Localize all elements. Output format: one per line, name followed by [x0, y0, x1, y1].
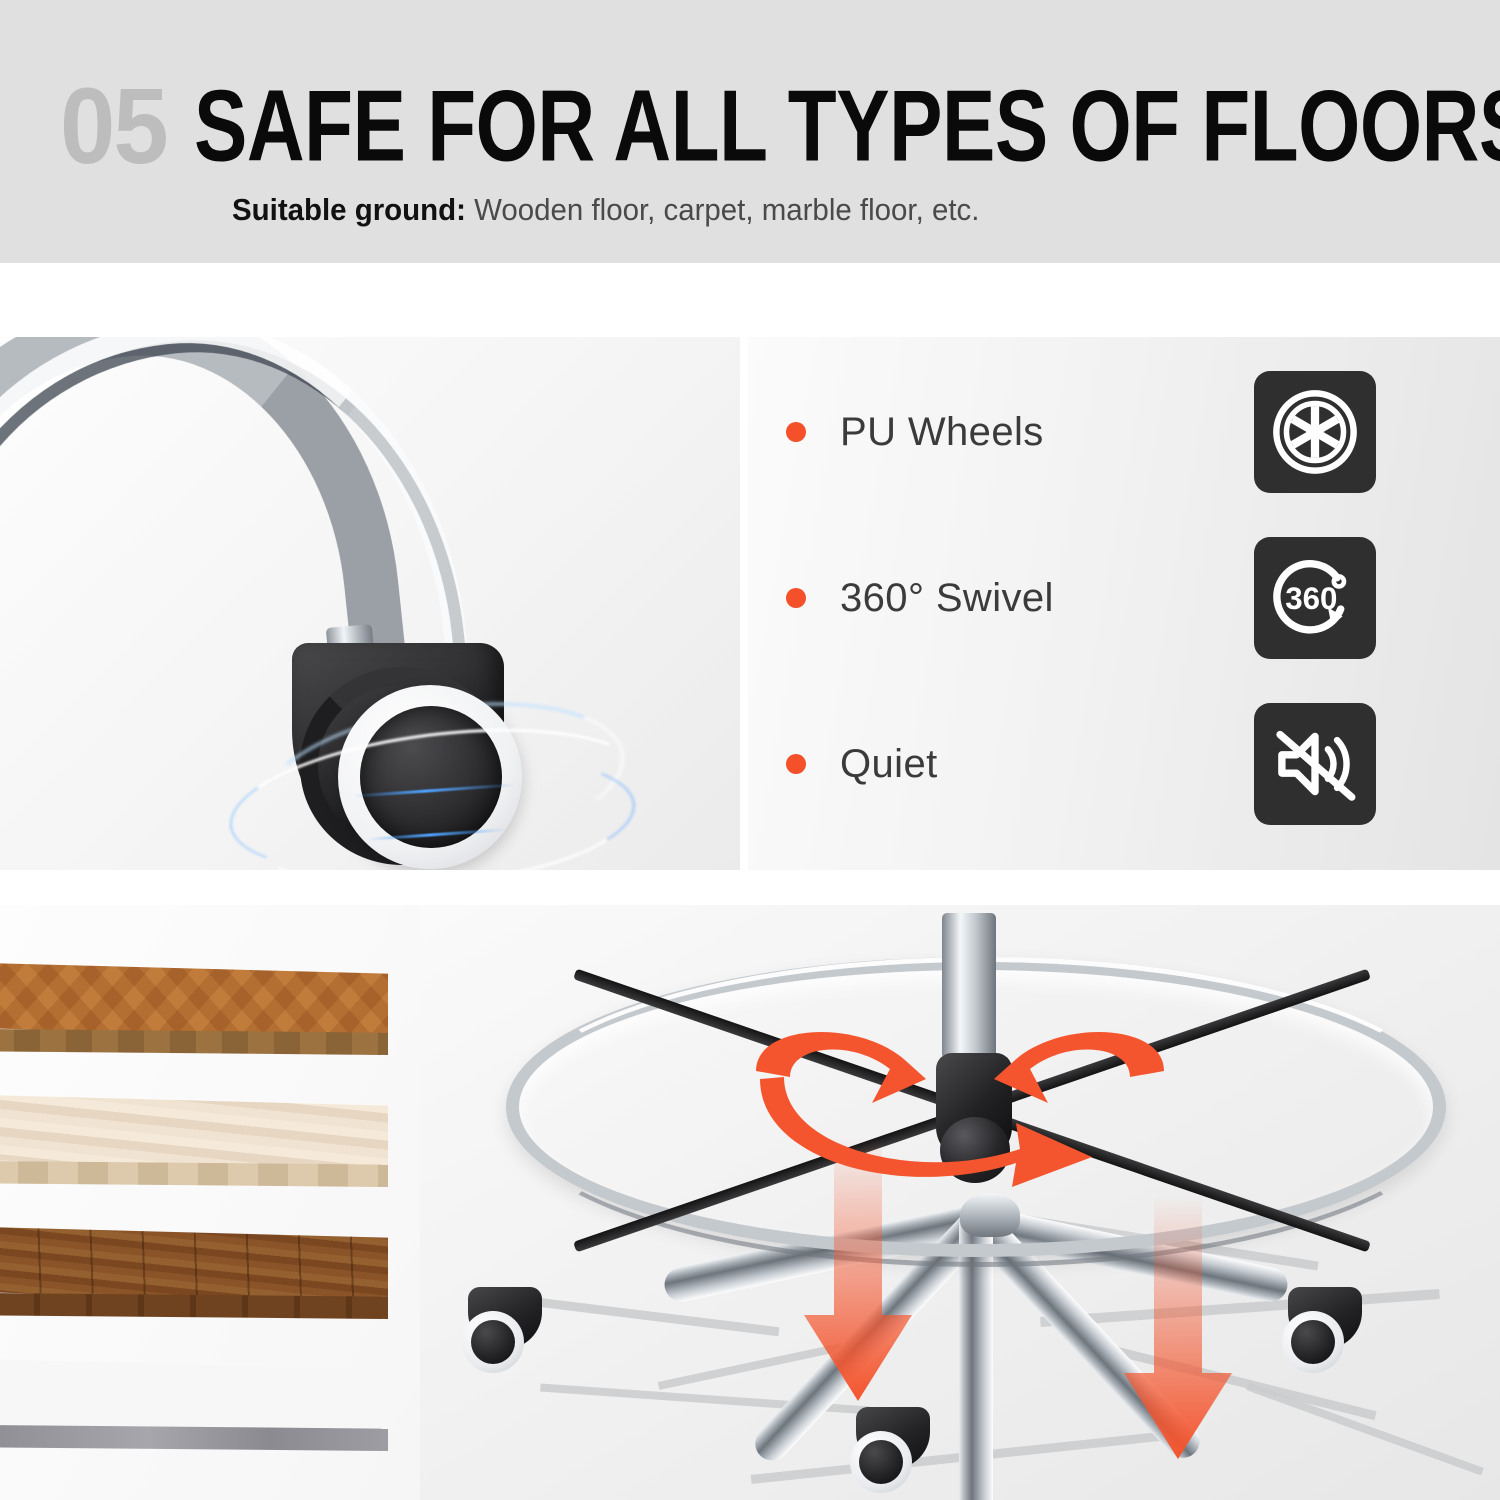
- feature-list: PU Wheels: [748, 337, 1500, 870]
- feature-label: 360° Swivel: [840, 576, 1054, 621]
- swivel-rotation-arrow: [720, 1017, 1200, 1187]
- slab-surface: [0, 1227, 388, 1303]
- slab-edge: [0, 1029, 388, 1055]
- feature-row-quiet: Quiet: [776, 703, 1476, 825]
- downward-pressure-arrow: [1120, 1195, 1236, 1465]
- page-title: SAFE FOR ALL TYPES OF FLOORS: [194, 76, 1500, 177]
- slab-surface: [0, 963, 388, 1039]
- feature-label: PU Wheels: [840, 410, 1044, 455]
- subtitle-rest: Wooden floor, carpet, marble floor, etc.: [466, 192, 979, 227]
- caster-wheel: [462, 1287, 548, 1373]
- bullet-icon: [786, 422, 806, 442]
- feature-label: Quiet: [840, 742, 938, 787]
- slab-surface: [0, 1359, 388, 1435]
- feature-list-panel: PU Wheels: [748, 337, 1500, 870]
- downward-pressure-arrow: [800, 1137, 916, 1407]
- mute-speaker-icon: [1254, 703, 1376, 825]
- infographic-page: 05 SAFE FOR ALL TYPES OF FLOORS Suitable…: [0, 0, 1500, 1500]
- caster-tread: [859, 1440, 903, 1484]
- caster-wheel-tread: [360, 706, 502, 848]
- caster-photo-panel: [0, 337, 740, 870]
- floor-samples-panel: [0, 905, 420, 1500]
- slab-edge: [0, 1425, 388, 1451]
- wheel-icon: [1254, 371, 1376, 493]
- caster-tread: [471, 1320, 515, 1364]
- slab-edge: [0, 1293, 388, 1319]
- feature-row-360-swivel: 360° Swivel 360: [776, 537, 1476, 659]
- header-band: 05 SAFE FOR ALL TYPES OF FLOORS Suitable…: [0, 0, 1500, 263]
- bullet-icon: [786, 754, 806, 774]
- caster-wheel: [850, 1407, 936, 1493]
- caster-wheel: [1282, 1287, 1368, 1373]
- caster-stage: [0, 337, 740, 870]
- header-subtitle: Suitable ground: Wooden floor, carpet, m…: [232, 192, 979, 228]
- header-title-row: 05 SAFE FOR ALL TYPES OF FLOORS: [60, 72, 1500, 180]
- feature-row-pu-wheels: PU Wheels: [776, 371, 1476, 493]
- bullet-icon: [786, 588, 806, 608]
- chair-base-stage: [420, 905, 1500, 1500]
- slab-surface: [0, 1095, 388, 1171]
- svg-text:360: 360: [1285, 581, 1337, 616]
- caster-tread: [1291, 1320, 1335, 1364]
- step-number: 05: [60, 72, 167, 180]
- chair-base-panel: [420, 905, 1500, 1500]
- slab-edge: [0, 1161, 388, 1187]
- rotate-360-icon: 360: [1254, 537, 1376, 659]
- subtitle-lead: Suitable ground:: [232, 192, 466, 227]
- floor-crack: [1246, 1382, 1484, 1475]
